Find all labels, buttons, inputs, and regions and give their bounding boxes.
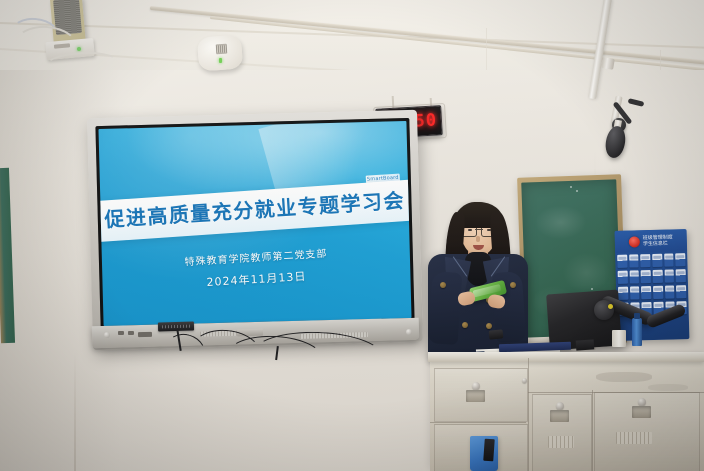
cup[interactable] (612, 330, 626, 347)
card-slot (653, 286, 663, 299)
cabinet-handle[interactable] (466, 390, 485, 402)
card-slot (641, 270, 651, 283)
cabinet-scuff (648, 384, 688, 391)
cabinet-handle[interactable] (550, 410, 569, 422)
cabinet-lock[interactable] (638, 398, 646, 406)
monitor-stand (576, 339, 595, 350)
card-slot (676, 285, 686, 298)
wifi-vent (216, 44, 228, 55)
coat-button (486, 323, 492, 329)
cabinet-lock[interactable] (556, 402, 564, 410)
presenter (424, 196, 532, 356)
card-slot (664, 253, 674, 266)
card-slot (664, 269, 674, 282)
card-board-row (617, 253, 685, 268)
smartboard-button[interactable] (104, 332, 110, 338)
card-slot (676, 269, 686, 282)
chalk-smudge (534, 204, 587, 240)
card-slot (618, 287, 628, 300)
chalk-mark (576, 190, 578, 192)
card-board-header-line2: 学生信息栏 (643, 240, 673, 247)
cabinet-seam (430, 422, 526, 423)
cabinet-seam (528, 358, 529, 471)
podium-worktop (428, 352, 704, 362)
coat-button (440, 282, 446, 288)
card-slot (629, 254, 639, 267)
coat-button (462, 322, 468, 328)
wifi-led (219, 58, 222, 63)
cabinet-vent (616, 432, 652, 444)
card-slot (652, 254, 662, 267)
card-slot (676, 253, 686, 266)
blue-bin[interactable] (470, 436, 498, 471)
card-board-row (618, 285, 686, 300)
cabinet-handle[interactable] (632, 406, 651, 418)
glasses-bridge (475, 229, 483, 230)
chalk-mark (570, 186, 572, 188)
cabinet-seam (528, 392, 704, 393)
card-slot (653, 270, 663, 283)
pole-collar (601, 57, 615, 70)
card-slot (630, 286, 640, 299)
cabinet-lock[interactable] (472, 382, 480, 390)
card-slot (641, 286, 651, 299)
card-board-header: 班级管理制度 学生信息栏 (615, 229, 688, 253)
wall-seam (74, 352, 76, 471)
cabinet-keyhole[interactable] (522, 378, 527, 383)
emblem-icon (629, 236, 640, 247)
card-slot (665, 285, 675, 298)
smartboard-port[interactable] (138, 332, 152, 337)
card-board-row (618, 269, 686, 284)
card-slot (617, 255, 627, 268)
chalk-mark (591, 288, 593, 290)
cabinet-vent (548, 436, 574, 448)
card-slot (641, 254, 651, 267)
cabinet-scuff (596, 372, 652, 382)
card-slot (618, 271, 628, 284)
coat-button (510, 282, 516, 288)
card-slot (629, 270, 639, 283)
cabinet-seam (592, 390, 593, 471)
chalk-smudge (562, 252, 611, 294)
classroom-photo: 15 50 SmartBoard 促进高质量充分就业专题学习会 特殊教育学院教师… (0, 0, 704, 471)
smartboard-port[interactable] (128, 331, 134, 335)
remote-control[interactable] (489, 329, 504, 339)
smartboard-button[interactable] (406, 329, 412, 335)
monitor-arm-joint[interactable] (594, 300, 614, 320)
presentation-slide[interactable]: SmartBoard 促进高质量充分就业专题学习会 特殊教育学院教师第二党支部 … (98, 121, 411, 326)
smartboard-port[interactable] (118, 331, 124, 335)
water-bottle[interactable] (632, 318, 642, 346)
nose (476, 236, 480, 242)
arm-adjust-knob[interactable] (608, 304, 613, 309)
